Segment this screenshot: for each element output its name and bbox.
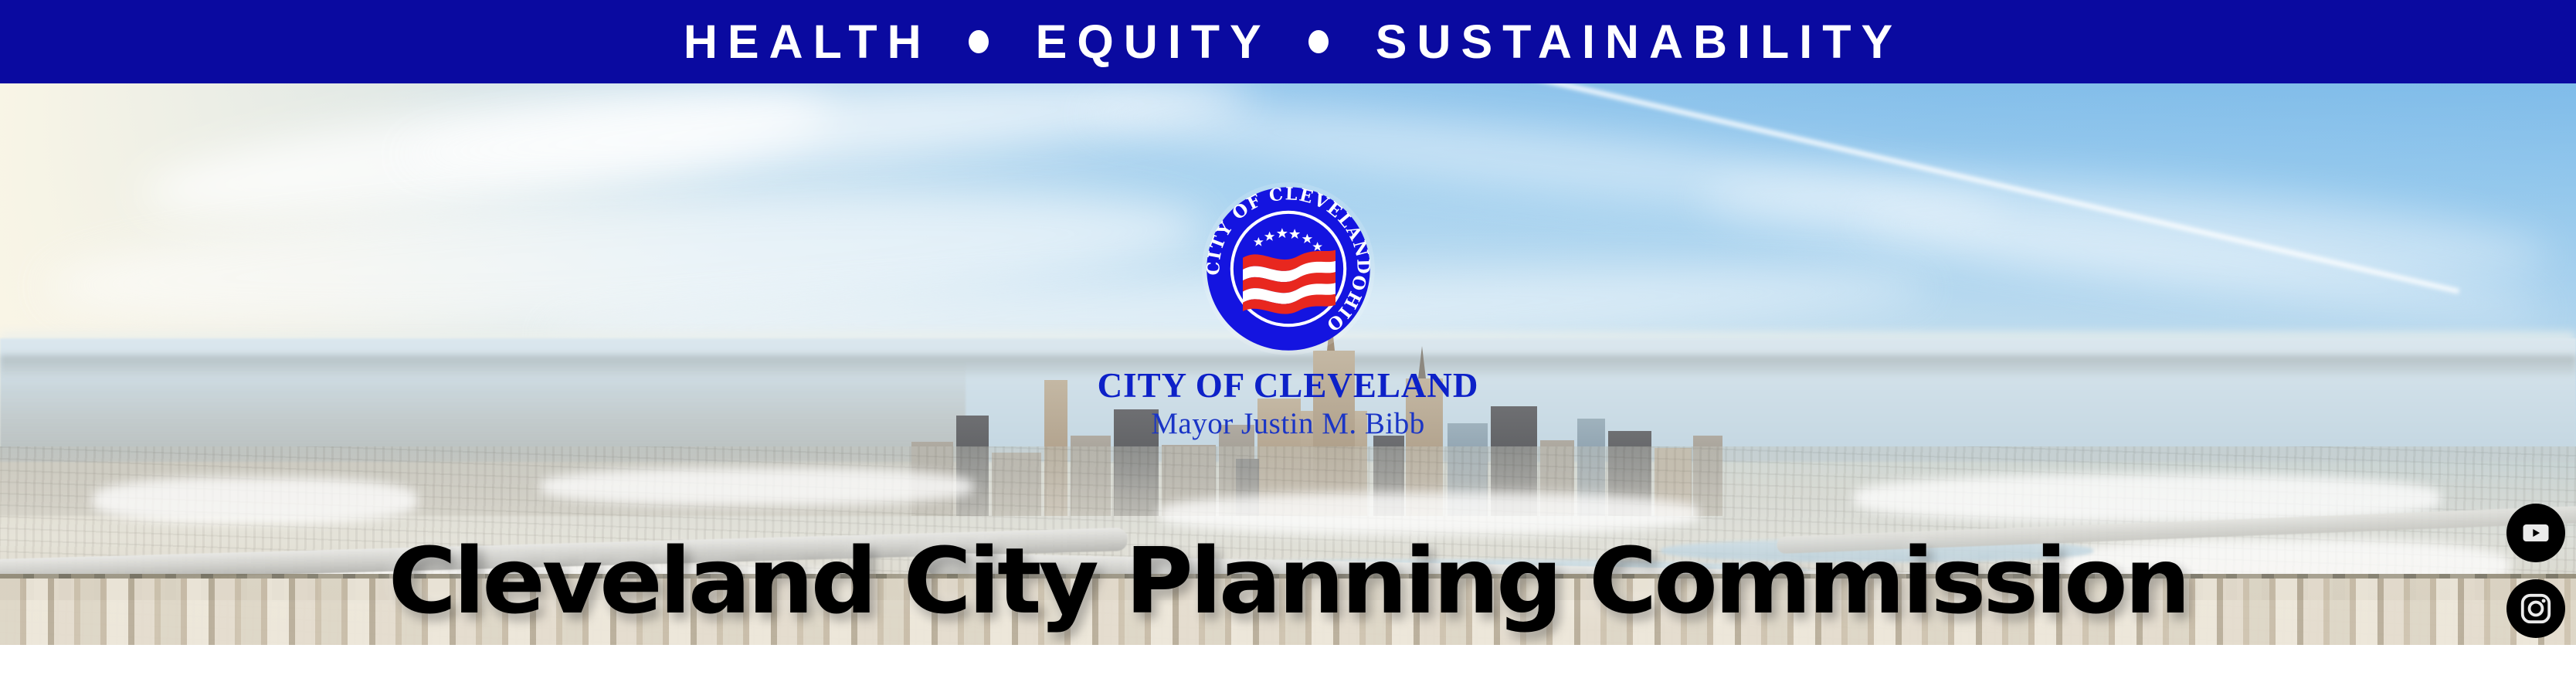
hero-photo: CITY OF CLEVELAND OHIO [0, 83, 2576, 645]
values-banner-inner: HEALTH EQUITY SUSTAINABILITY [674, 19, 1902, 66]
city-of-cleveland-seal-icon: CITY OF CLEVELAND OHIO [1194, 175, 1383, 363]
banner-word-health: HEALTH [674, 19, 932, 66]
logo-title: CITY OF CLEVELAND [1072, 368, 1505, 404]
instagram-icon [2519, 592, 2553, 626]
page-root: HEALTH EQUITY SUSTAINABILITY [0, 0, 2576, 682]
banner-word-equity: EQUITY [1026, 19, 1271, 66]
banner-word-sustainability: SUSTAINABILITY [1366, 19, 1902, 66]
page-title: Cleveland City Planning Commission [0, 535, 2576, 626]
bottom-white-strip [0, 645, 2576, 682]
youtube-icon [2519, 516, 2553, 550]
social-link-youtube[interactable] [2506, 504, 2565, 562]
bullet-separator-icon [1308, 30, 1329, 53]
social-links [2506, 504, 2565, 645]
values-banner: HEALTH EQUITY SUSTAINABILITY [0, 0, 2576, 83]
bullet-separator-icon [969, 30, 989, 53]
social-link-instagram[interactable] [2506, 579, 2565, 638]
city-logo-lockup[interactable]: CITY OF CLEVELAND OHIO [1072, 175, 1505, 440]
logo-subtitle: Mayor Justin M. Bibb [1072, 409, 1505, 440]
